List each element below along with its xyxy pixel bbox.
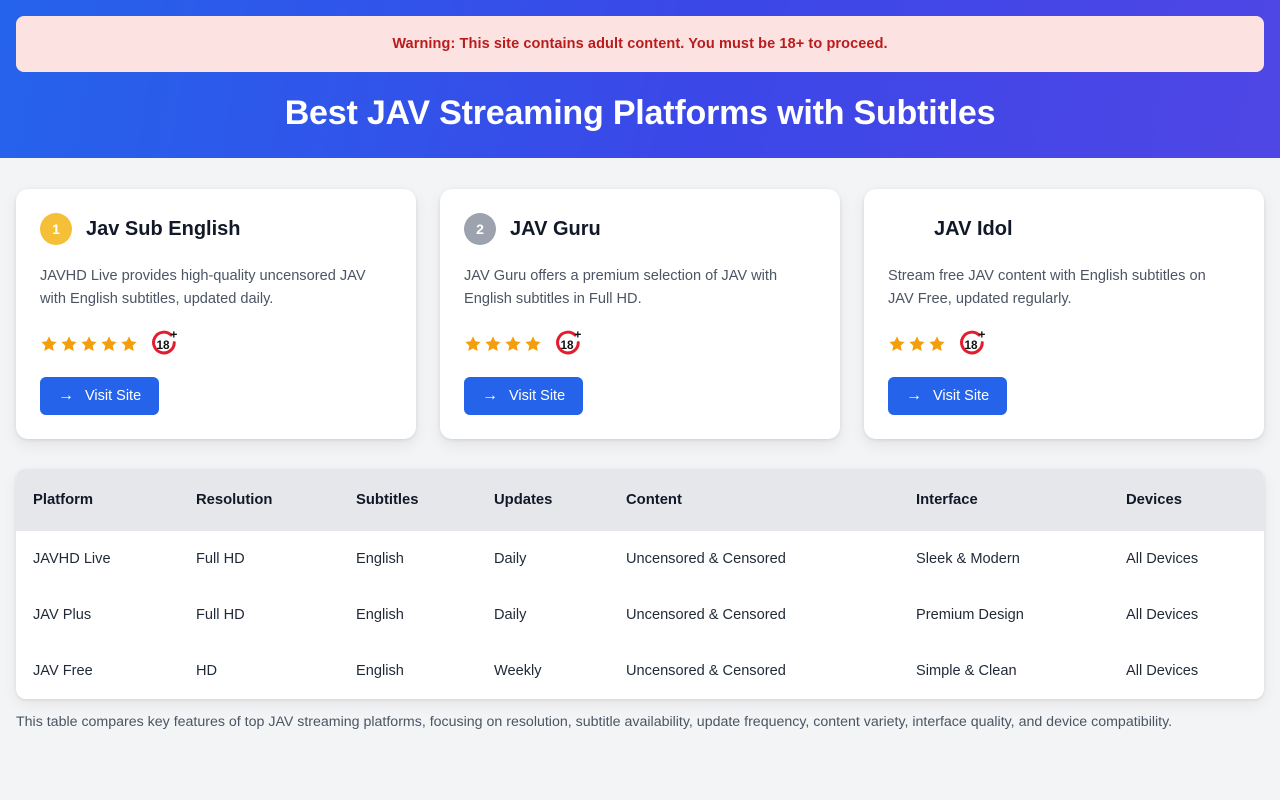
star-rating xyxy=(40,335,138,353)
rating-row: 18+ xyxy=(464,329,816,359)
page-header: Warning: This site contains adult conten… xyxy=(0,0,1280,158)
svg-text:18: 18 xyxy=(561,339,575,352)
star-icon xyxy=(100,335,118,353)
visit-site-button[interactable]: →Visit Site xyxy=(888,377,1007,415)
table-column-header: Resolution xyxy=(196,469,356,531)
visit-site-button[interactable]: →Visit Site xyxy=(464,377,583,415)
star-icon xyxy=(60,335,78,353)
svg-text:+: + xyxy=(978,328,985,341)
table-cell: Sleek & Modern xyxy=(916,531,1126,587)
platform-card: JAV IdolStream free JAV content with Eng… xyxy=(864,189,1264,439)
star-icon xyxy=(888,335,906,353)
table-column-header: Subtitles xyxy=(356,469,494,531)
table-body: JAVHD LiveFull HDEnglishDailyUncensored … xyxy=(16,531,1264,699)
table-column-header: Updates xyxy=(494,469,626,531)
svg-text:+: + xyxy=(574,328,581,341)
rating-row: 18+ xyxy=(888,329,1240,359)
age-18-plus-icon: 18+ xyxy=(956,328,988,360)
card-header: 2JAV Guru xyxy=(464,213,816,245)
card-description: Stream free JAV content with English sub… xyxy=(888,265,1228,311)
table-caption: This table compares key features of top … xyxy=(16,711,1264,735)
age-18-plus-icon: 18+ xyxy=(148,328,180,360)
table-header: PlatformResolutionSubtitlesUpdatesConten… xyxy=(16,469,1264,531)
visit-site-button[interactable]: →Visit Site xyxy=(40,377,159,415)
star-icon xyxy=(80,335,98,353)
svg-text:18: 18 xyxy=(965,339,979,352)
table-cell: Uncensored & Censored xyxy=(626,587,916,643)
platform-card: 1Jav Sub EnglishJAVHD Live provides high… xyxy=(16,189,416,439)
table-cell: Weekly xyxy=(494,643,626,699)
table-cell: Daily xyxy=(494,587,626,643)
table-cell: JAV Free xyxy=(16,643,196,699)
table-column-header: Devices xyxy=(1126,469,1264,531)
table-cell: English xyxy=(356,531,494,587)
warning-text: Warning: This site contains adult conten… xyxy=(392,36,887,52)
star-icon xyxy=(120,335,138,353)
table-cell: HD xyxy=(196,643,356,699)
table-cell: Uncensored & Censored xyxy=(626,531,916,587)
card-description: JAV Guru offers a premium selection of J… xyxy=(464,265,804,311)
card-title: JAV Idol xyxy=(934,218,1013,241)
arrow-right-icon: → xyxy=(58,388,74,404)
visit-site-label: Visit Site xyxy=(509,388,565,404)
adult-content-warning-banner: Warning: This site contains adult conten… xyxy=(16,16,1264,72)
platform-card: 2JAV GuruJAV Guru offers a premium selec… xyxy=(440,189,840,439)
table-cell: Uncensored & Censored xyxy=(626,643,916,699)
card-header: 1Jav Sub English xyxy=(40,213,392,245)
star-rating xyxy=(464,335,542,353)
card-title: Jav Sub English xyxy=(86,218,240,241)
star-icon xyxy=(464,335,482,353)
table-cell: JAVHD Live xyxy=(16,531,196,587)
table-cell: English xyxy=(356,643,494,699)
table-row: JAVHD LiveFull HDEnglishDailyUncensored … xyxy=(16,531,1264,587)
arrow-right-icon: → xyxy=(906,388,922,404)
star-icon xyxy=(40,335,58,353)
rating-row: 18+ xyxy=(40,329,392,359)
star-icon xyxy=(928,335,946,353)
visit-site-label: Visit Site xyxy=(933,388,989,404)
svg-text:+: + xyxy=(170,328,177,341)
table-cell: English xyxy=(356,587,494,643)
card-header: JAV Idol xyxy=(888,213,1240,245)
rank-badge xyxy=(888,213,920,245)
age-18-plus-icon: 18+ xyxy=(552,328,584,360)
comparison-table: PlatformResolutionSubtitlesUpdatesConten… xyxy=(16,469,1264,699)
visit-site-label: Visit Site xyxy=(85,388,141,404)
arrow-right-icon: → xyxy=(482,388,498,404)
table-cell: Full HD xyxy=(196,531,356,587)
table-cell: Premium Design xyxy=(916,587,1126,643)
table-cell: All Devices xyxy=(1126,531,1264,587)
page-title: Best JAV Streaming Platforms with Subtit… xyxy=(16,84,1264,135)
platform-cards-row: 1Jav Sub EnglishJAVHD Live provides high… xyxy=(0,158,1280,439)
star-icon xyxy=(504,335,522,353)
comparison-table-container: PlatformResolutionSubtitlesUpdatesConten… xyxy=(16,469,1264,699)
svg-text:18: 18 xyxy=(157,339,171,352)
table-header-row: PlatformResolutionSubtitlesUpdatesConten… xyxy=(16,469,1264,531)
table-cell: JAV Plus xyxy=(16,587,196,643)
table-cell: Daily xyxy=(494,531,626,587)
card-title: JAV Guru xyxy=(510,218,601,241)
card-description: JAVHD Live provides high-quality uncenso… xyxy=(40,265,380,311)
table-cell: Full HD xyxy=(196,587,356,643)
table-cell: Simple & Clean xyxy=(916,643,1126,699)
star-rating xyxy=(888,335,946,353)
rank-badge: 1 xyxy=(40,213,72,245)
star-icon xyxy=(524,335,542,353)
table-cell: All Devices xyxy=(1126,643,1264,699)
star-icon xyxy=(484,335,502,353)
table-column-header: Platform xyxy=(16,469,196,531)
table-column-header: Content xyxy=(626,469,916,531)
rank-badge: 2 xyxy=(464,213,496,245)
table-cell: All Devices xyxy=(1126,587,1264,643)
table-row: JAV PlusFull HDEnglishDailyUncensored & … xyxy=(16,587,1264,643)
table-column-header: Interface xyxy=(916,469,1126,531)
star-icon xyxy=(908,335,926,353)
table-row: JAV FreeHDEnglishWeeklyUncensored & Cens… xyxy=(16,643,1264,699)
